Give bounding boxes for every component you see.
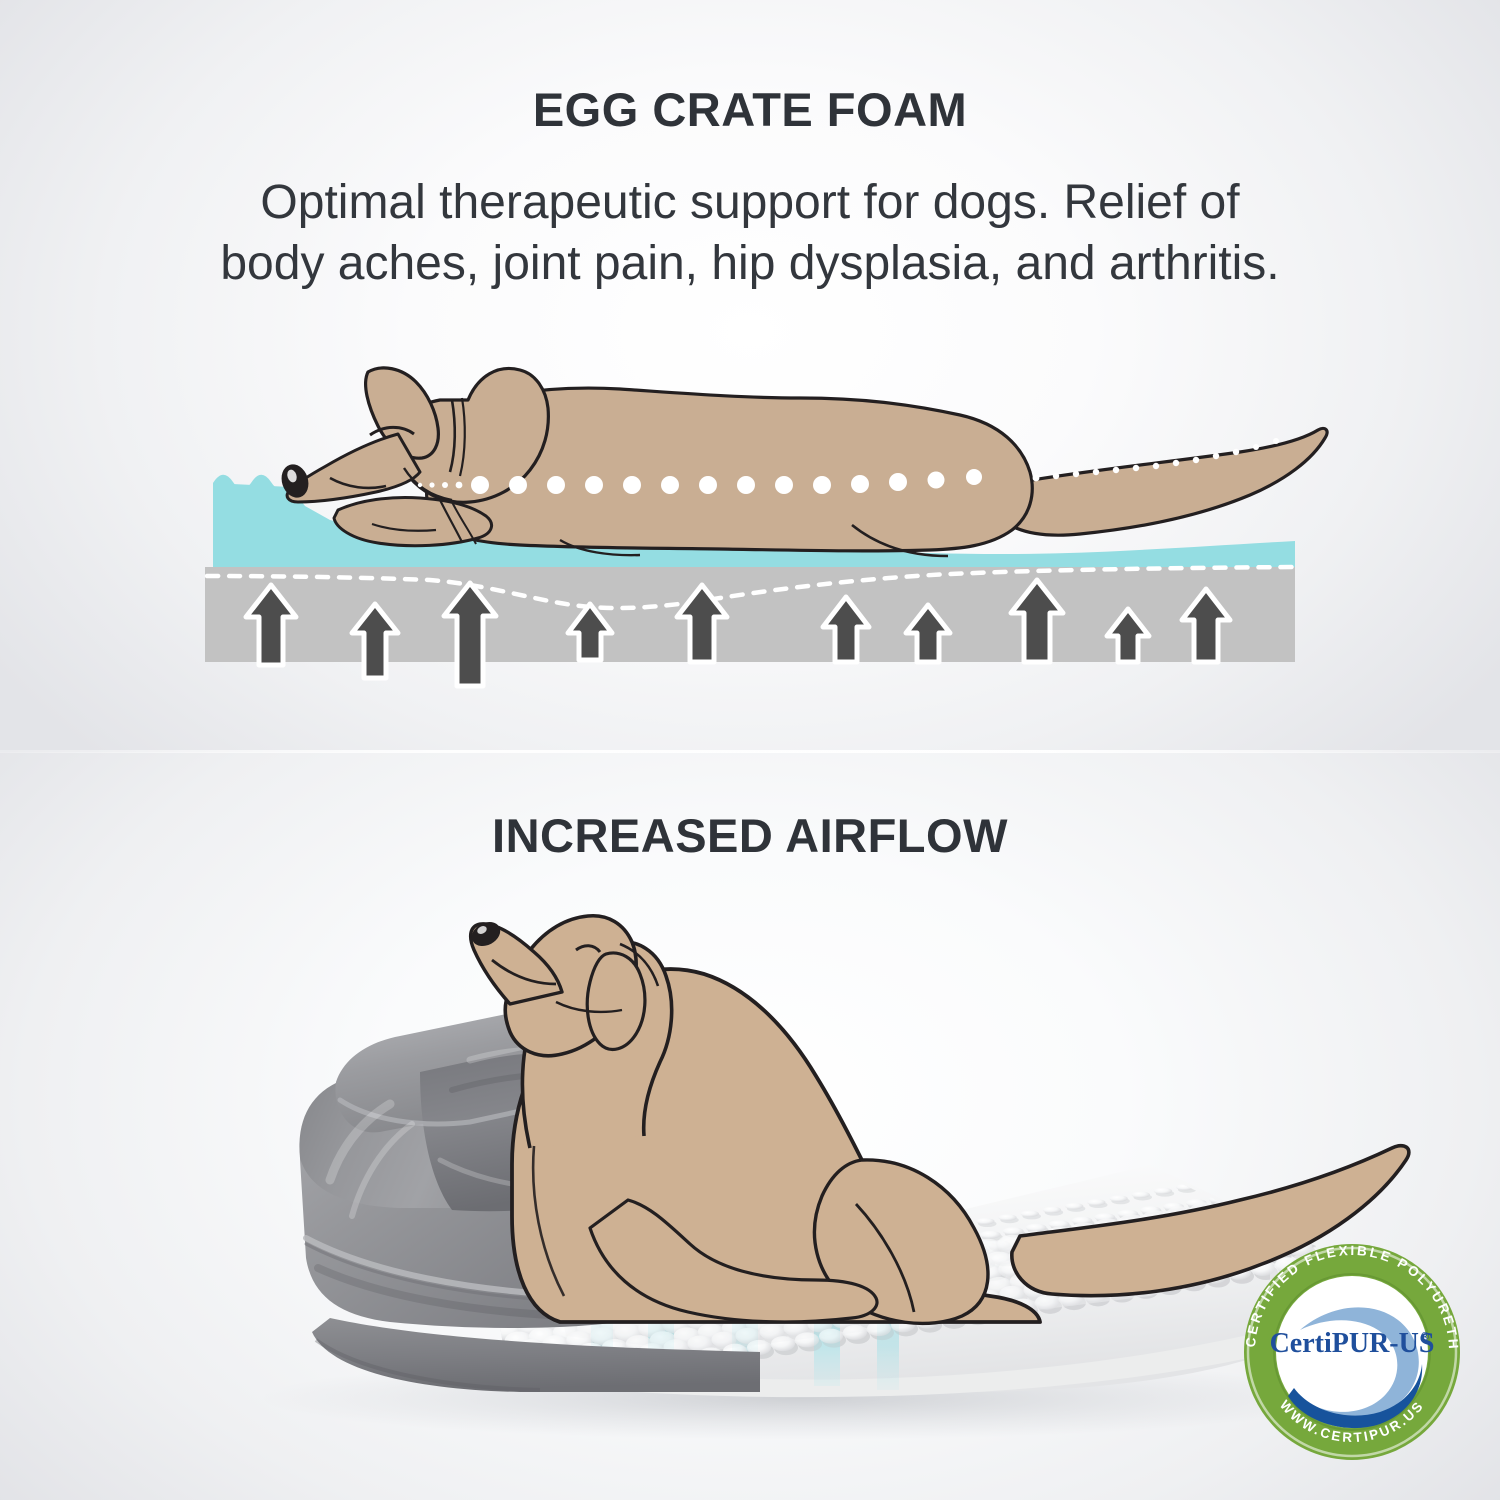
panel-increased-airflow: [0, 752, 1500, 1500]
page-title-egg-crate-foam: EGG CRATE FOAM: [0, 82, 1500, 137]
subtitle-line-2: body aches, joint pain, hip dysplasia, a…: [50, 233, 1450, 294]
subtitle-line-1: Optimal therapeutic support for dogs. Re…: [50, 172, 1450, 233]
subtitle-text: Optimal therapeutic support for dogs. Re…: [50, 172, 1450, 295]
page-title-increased-airflow: INCREASED AIRFLOW: [0, 808, 1500, 863]
infographic-root: CertiPUR-US ® CONTAINS CERTIFIED FLEXIBL…: [0, 0, 1500, 1500]
